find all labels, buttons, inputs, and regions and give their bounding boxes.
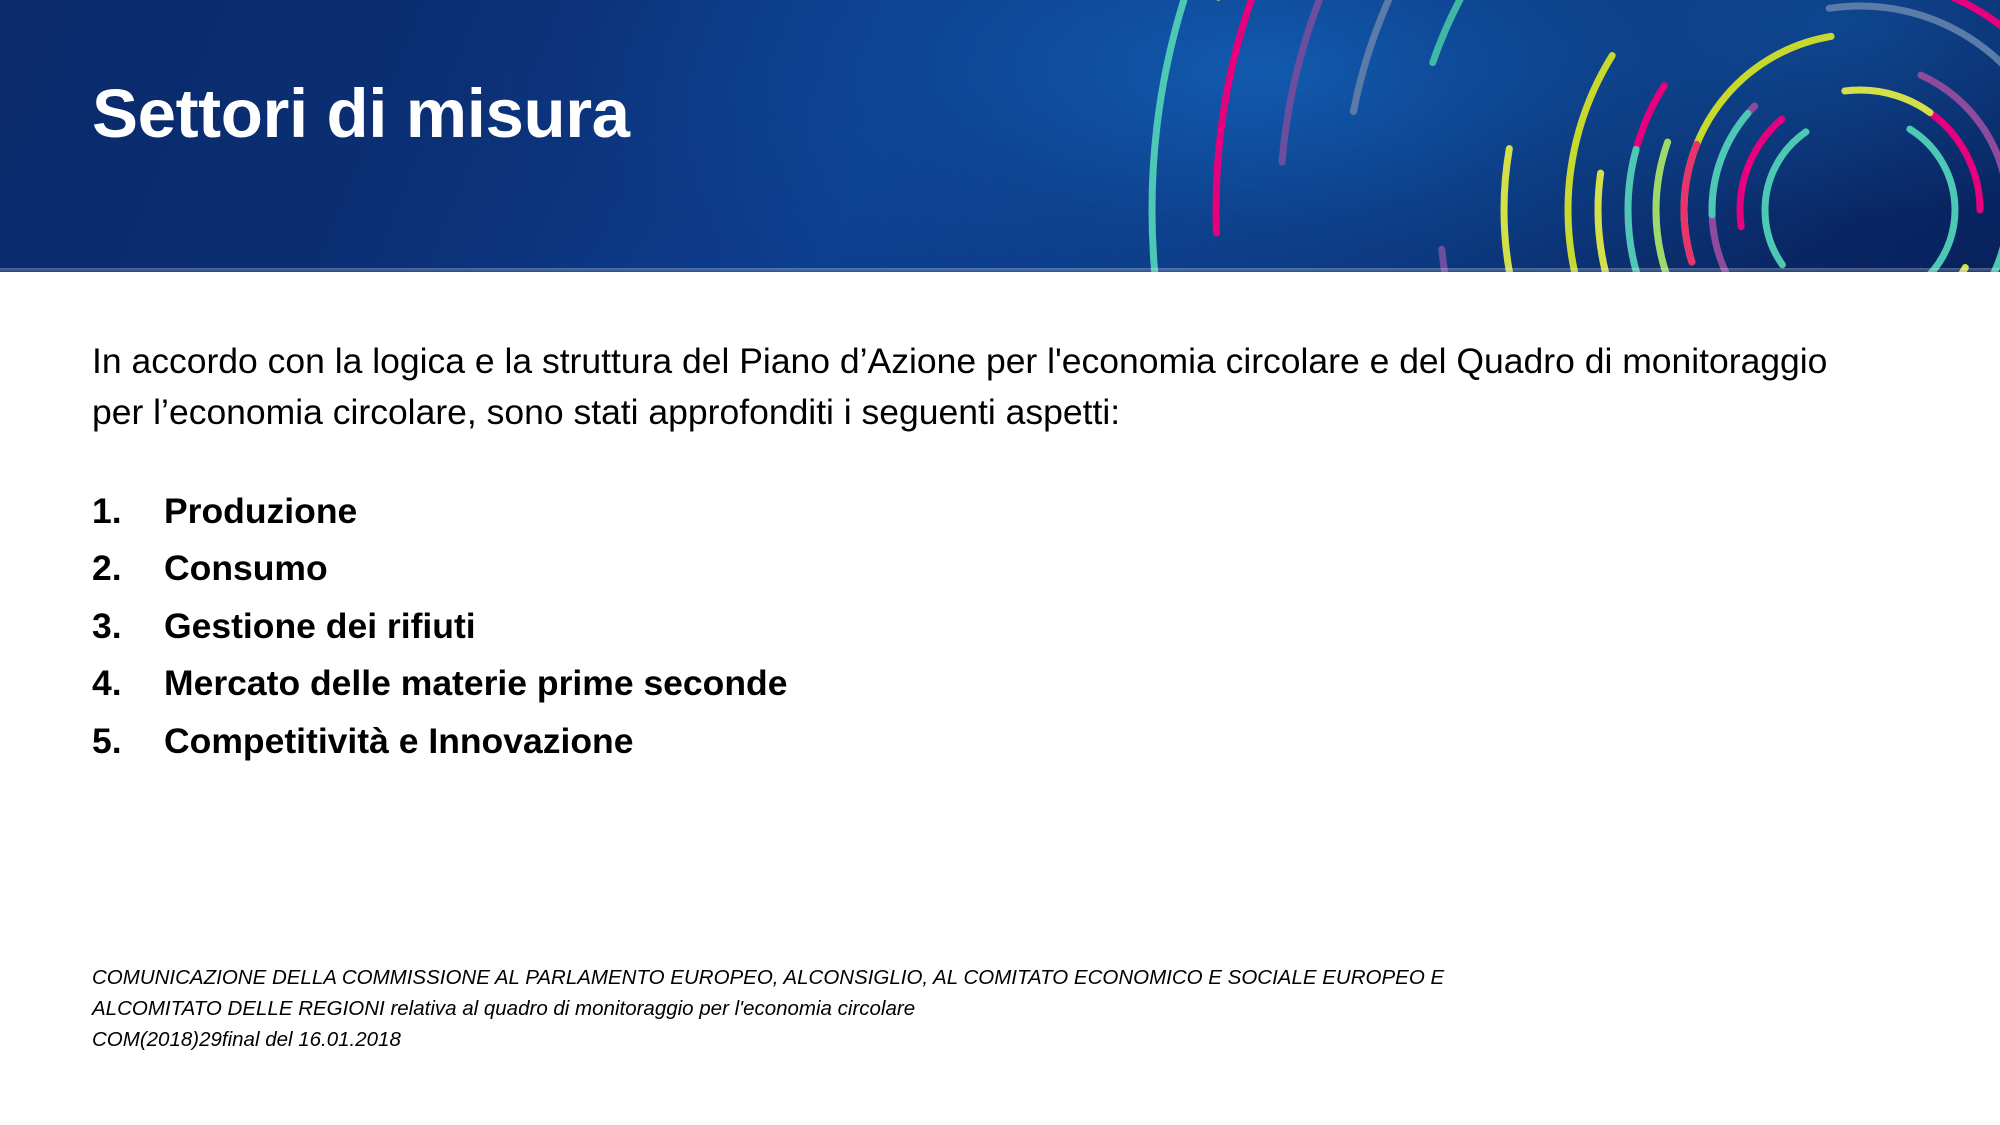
citation-line-1: COMUNICAZIONE DELLA COMMISSIONE AL PARLA… — [92, 962, 1892, 993]
citation-line-3: COM(2018)29final del 16.01.2018 — [92, 1024, 1892, 1055]
list-item-number: 5. — [92, 724, 164, 760]
header-divider — [0, 268, 2000, 272]
list-item-label: Consumo — [164, 551, 328, 587]
list-item: 4. Mercato delle materie prime seconde — [92, 666, 1882, 702]
list-item: 5. Competitività e Innovazione — [92, 724, 1882, 760]
list-item-label: Competitività e Innovazione — [164, 724, 633, 760]
list-item: 1. Produzione — [92, 494, 1882, 530]
list-item-label: Mercato delle materie prime seconde — [164, 666, 787, 702]
list-item-number: 4. — [92, 666, 164, 702]
list-item-label: Gestione dei rifiuti — [164, 609, 476, 645]
slide-body: In accordo con la logica e la struttura … — [92, 300, 1882, 781]
header-band: Settori di misura — [0, 0, 2000, 272]
list-item-label: Produzione — [164, 494, 357, 530]
sector-list: 1. Produzione 2. Consumo 3. Gestione dei… — [92, 494, 1882, 760]
citation-line-2: ALCOMITATO DELLE REGIONI relativa al qua… — [92, 993, 1892, 1024]
intro-paragraph: In accordo con la logica e la struttura … — [92, 336, 1852, 438]
list-item: 2. Consumo — [92, 551, 1882, 587]
list-item-number: 1. — [92, 494, 164, 530]
list-item-number: 2. — [92, 551, 164, 587]
slide-root: Settori di misura In accordo con la logi… — [0, 0, 2000, 1125]
page-title: Settori di misura — [92, 78, 630, 150]
list-item: 3. Gestione dei rifiuti — [92, 609, 1882, 645]
list-item-number: 3. — [92, 609, 164, 645]
source-citation: COMUNICAZIONE DELLA COMMISSIONE AL PARLA… — [92, 962, 1892, 1055]
